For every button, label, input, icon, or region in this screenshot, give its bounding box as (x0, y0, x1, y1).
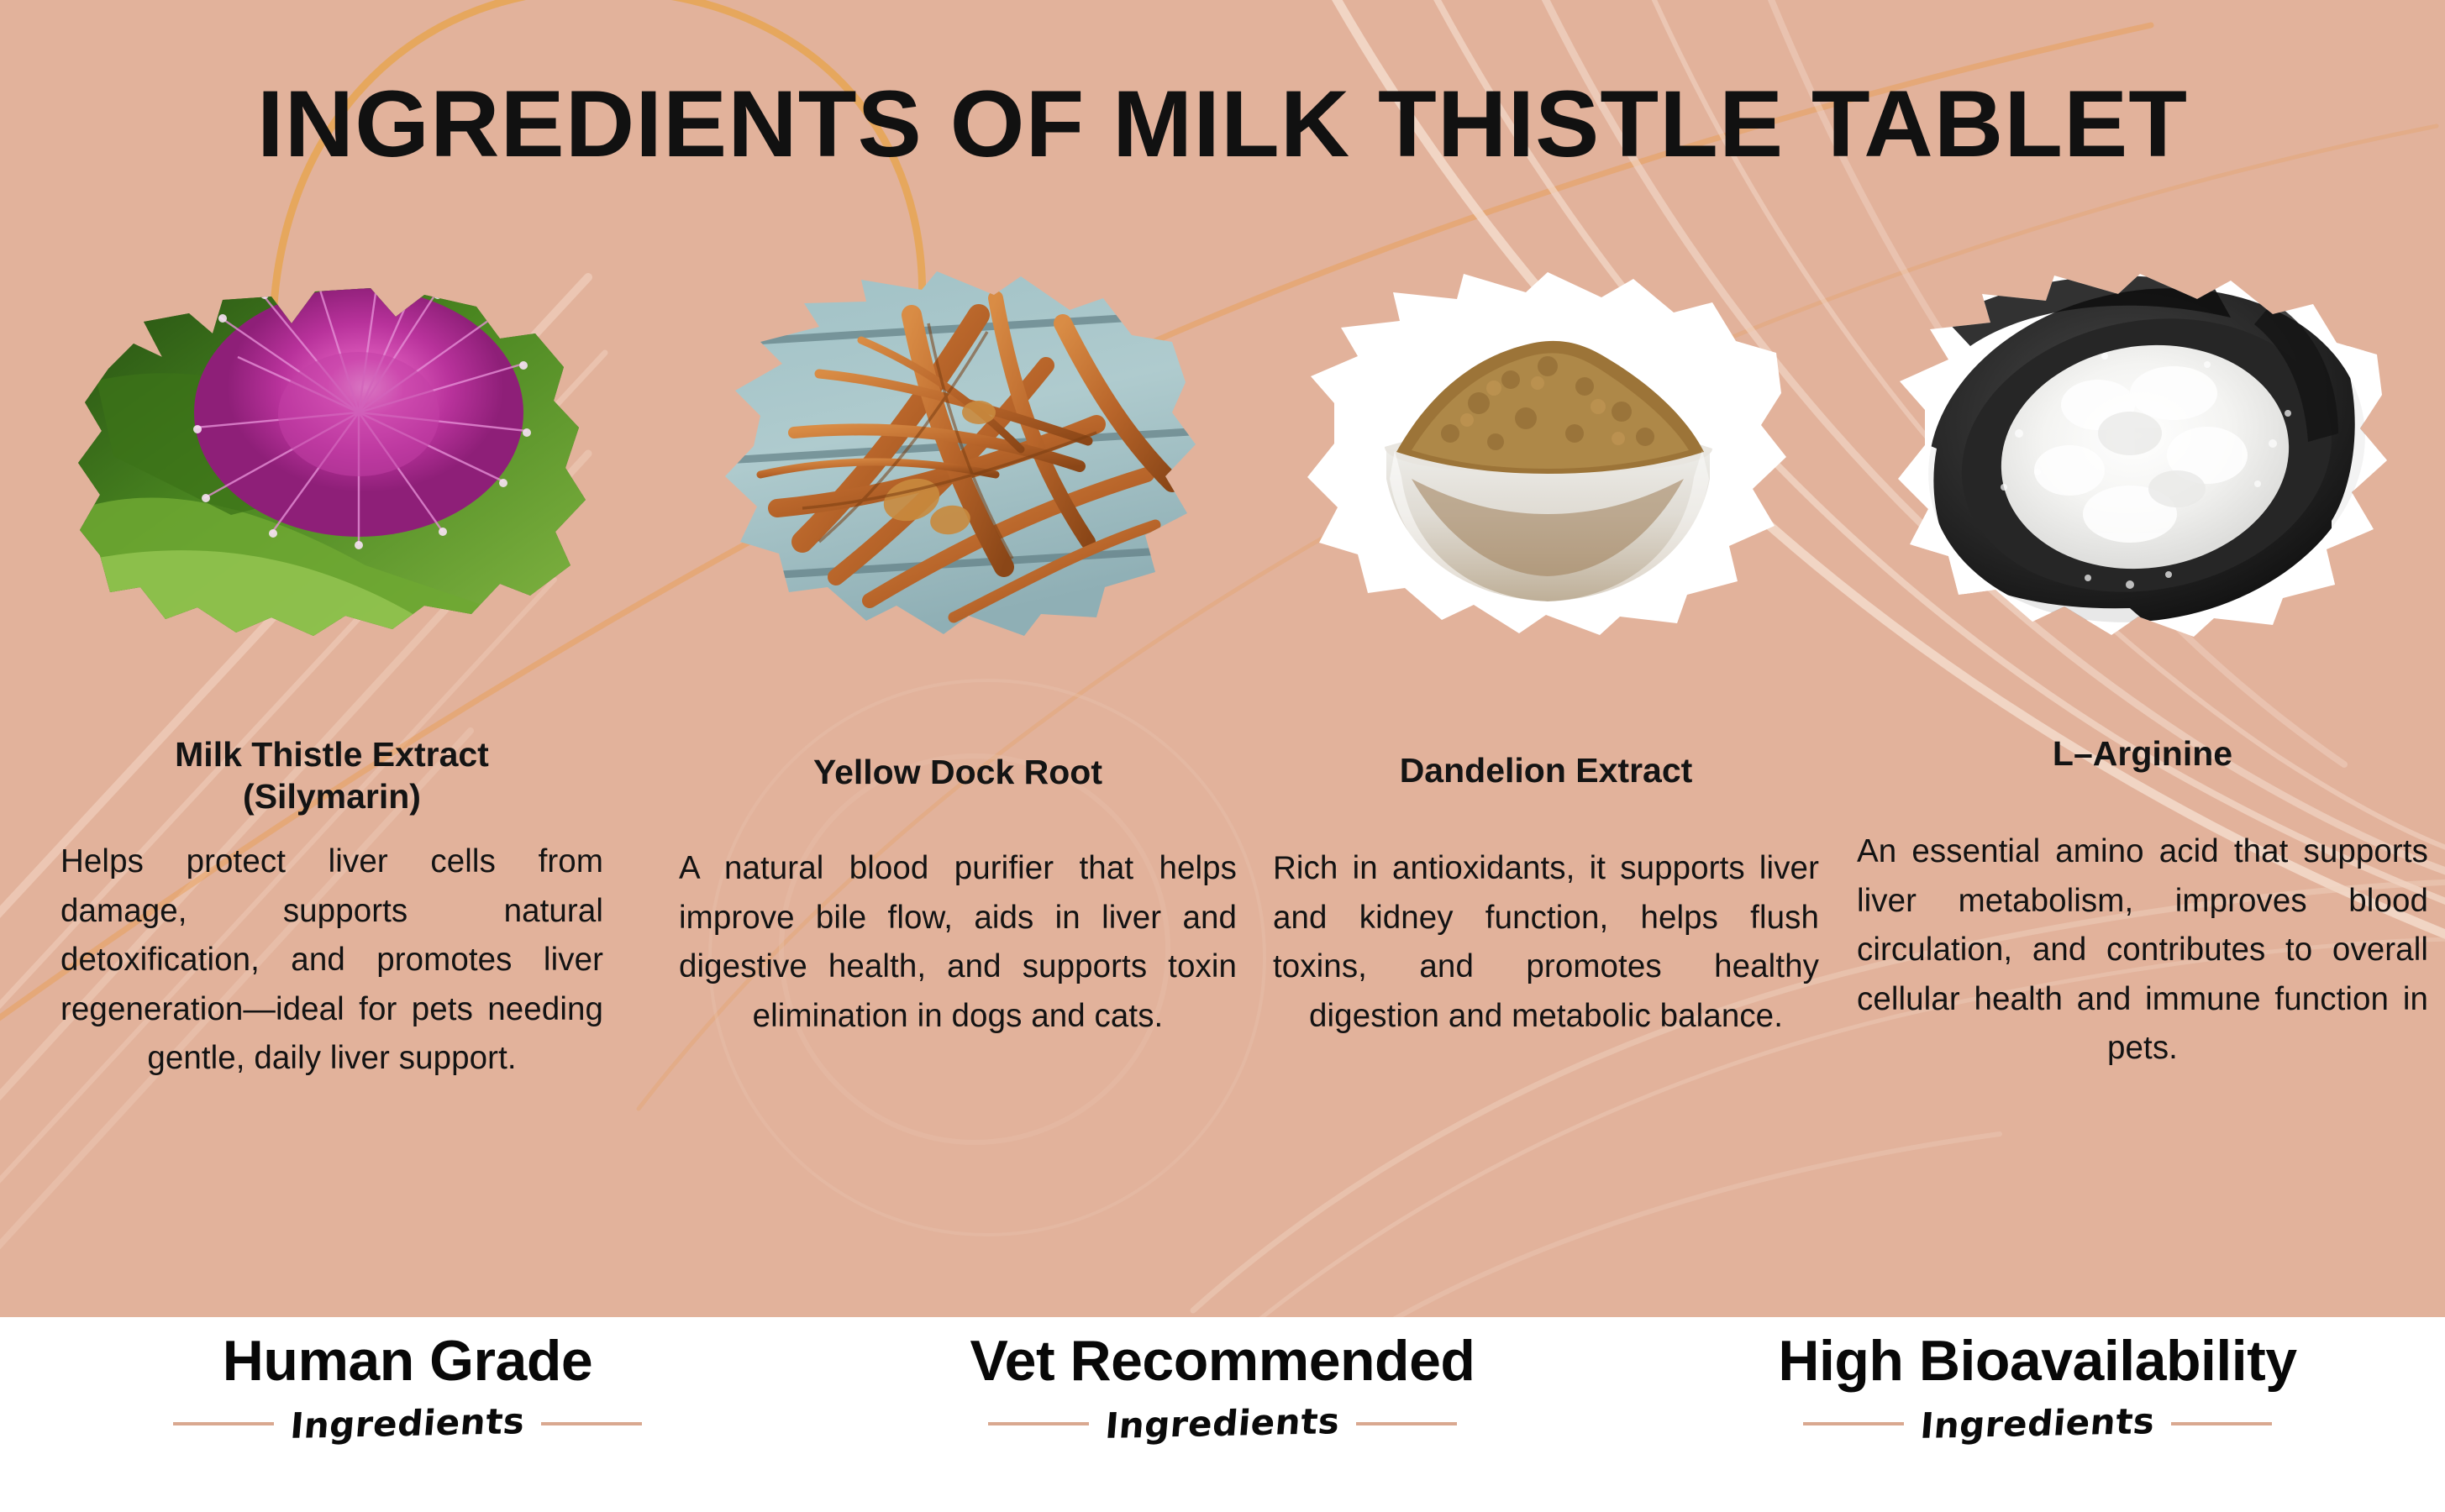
rule-left (988, 1422, 1089, 1425)
footer-item-vet-recommended: Vet Recommended Ingredients (815, 1317, 1630, 1512)
l-arginine-powder-bowl-photo (1878, 269, 2407, 638)
card-image-area (1252, 252, 1840, 655)
card-title-line1: Milk Thistle Extract (175, 735, 489, 774)
card-title-line2: (Silymarin) (243, 777, 421, 816)
ingredient-cards-row: Milk Thistle Extract (Silymarin) Helps p… (0, 252, 2445, 1302)
footer-subline: Ingredients (1104, 1404, 1341, 1444)
card-title-line1: Yellow Dock Root (813, 753, 1102, 791)
footer-headline: Human Grade (223, 1331, 592, 1391)
card-title-line1: L–Arginine (2053, 734, 2232, 773)
rule-left (1803, 1422, 1904, 1425)
card-description: Helps protect liver cells from damage, s… (0, 837, 664, 1084)
footer-badges: Human Grade Ingredients Vet Recommended … (0, 1317, 2445, 1512)
card-image-area (0, 252, 664, 655)
card-image-area (664, 252, 1252, 655)
infographic-poster: INGREDIENTS OF MILK THISTLE TABLET (0, 0, 2445, 1512)
rule-left (173, 1422, 274, 1425)
page-title: INGREDIENTS OF MILK THISTLE TABLET (0, 77, 2445, 171)
ingredient-card-l-arginine: L–Arginine An essential amino acid that … (1840, 252, 2445, 1302)
card-image-area (1840, 252, 2445, 655)
footer-item-human-grade: Human Grade Ingredients (0, 1317, 815, 1512)
footer-subline-row: Ingredients (0, 1406, 815, 1441)
card-title: Yellow Dock Root (664, 751, 1252, 793)
footer-headline: High Bioavailability (1778, 1331, 2296, 1391)
card-title: L–Arginine (1840, 732, 2445, 774)
card-description: A natural blood purifier that helps impr… (664, 844, 1252, 1041)
footer-subline-row: Ingredients (815, 1406, 1630, 1441)
ingredient-card-dandelion-extract: Dandelion Extract Rich in antioxidants, … (1252, 252, 1840, 1302)
ingredient-card-milk-thistle: Milk Thistle Extract (Silymarin) Helps p… (0, 252, 664, 1302)
card-title: Dandelion Extract (1252, 749, 1840, 791)
footer-item-high-bioavailability: High Bioavailability Ingredients (1630, 1317, 2445, 1512)
ingredient-card-yellow-dock-root: Yellow Dock Root A natural blood purifie… (664, 252, 1252, 1302)
card-description: An essential amino acid that supports li… (1840, 827, 2445, 1074)
yellow-dock-root-photo (702, 265, 1214, 643)
card-description: Rich in antioxidants, it supports liver … (1252, 844, 1840, 1041)
footer-subline: Ingredients (289, 1404, 526, 1444)
footer-subline-row: Ingredients (1630, 1406, 2445, 1441)
footer-subline: Ingredients (1919, 1404, 2156, 1444)
milk-thistle-flower-photo (63, 263, 601, 645)
card-title-line1: Dandelion Extract (1400, 751, 1693, 790)
rule-right (1356, 1422, 1457, 1425)
card-title: Milk Thistle Extract (Silymarin) (0, 733, 664, 817)
dandelion-powder-bowl-photo (1286, 269, 1806, 638)
rule-right (541, 1422, 642, 1425)
rule-right (2171, 1422, 2272, 1425)
footer-headline: Vet Recommended (970, 1331, 1475, 1391)
